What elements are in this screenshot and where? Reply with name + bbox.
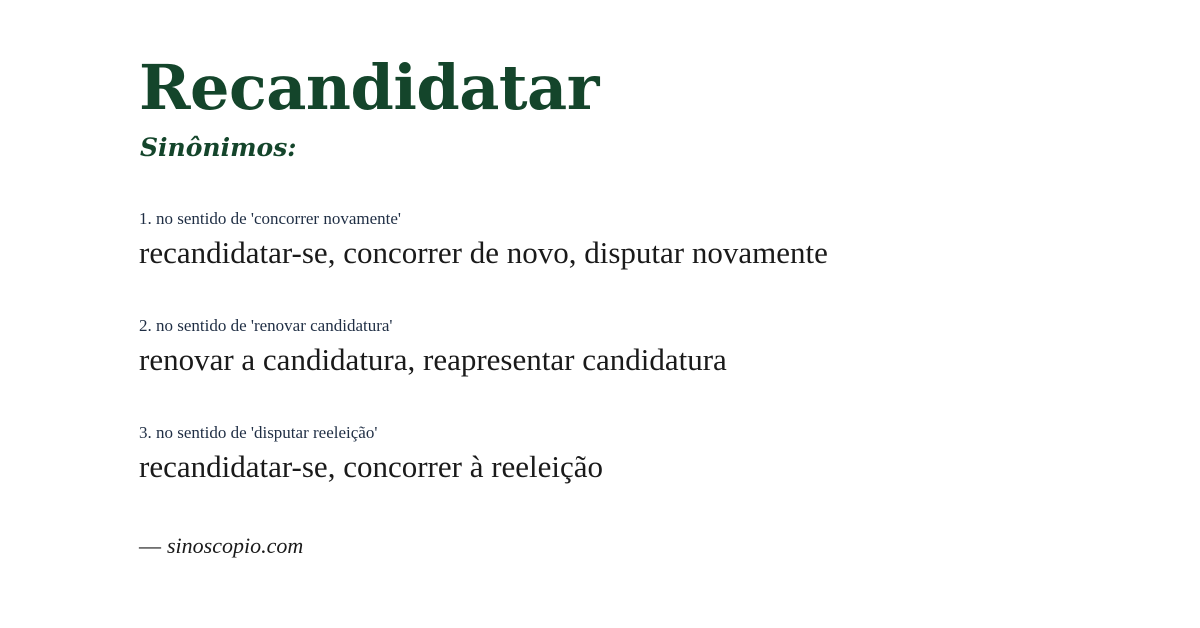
entry-synonyms: recandidatar-se, concorrer à reeleição [139,447,1159,487]
entry-sense-label: 1. no sentido de 'concorrer novamente' [139,208,1159,229]
entry-sense-label: 2. no sentido de 'renovar candidatura' [139,315,1159,336]
entry-sense-label: 3. no sentido de 'disputar reeleição' [139,422,1159,443]
list-item: 1. no sentido de 'concorrer novamente' r… [139,208,1159,273]
section-label-synonyms: Sinônimos: [140,133,297,163]
source-attribution: —sinoscopio.com [139,533,303,559]
list-item: 2. no sentido de 'renovar candidatura' r… [139,315,1159,380]
synonym-entry-list: 1. no sentido de 'concorrer novamente' r… [139,208,1159,487]
em-dash-icon: — [139,533,161,558]
synonym-card: Recandidatar Sinônimos: 1. no sentido de… [0,0,1200,628]
page-title: Recandidatar [139,55,599,121]
list-item: 3. no sentido de 'disputar reeleição' re… [139,422,1159,487]
entry-synonyms: recandidatar-se, concorrer de novo, disp… [139,233,1159,273]
entry-synonyms: renovar a candidatura, reapresentar cand… [139,340,1159,380]
source-name: sinoscopio.com [167,533,303,558]
